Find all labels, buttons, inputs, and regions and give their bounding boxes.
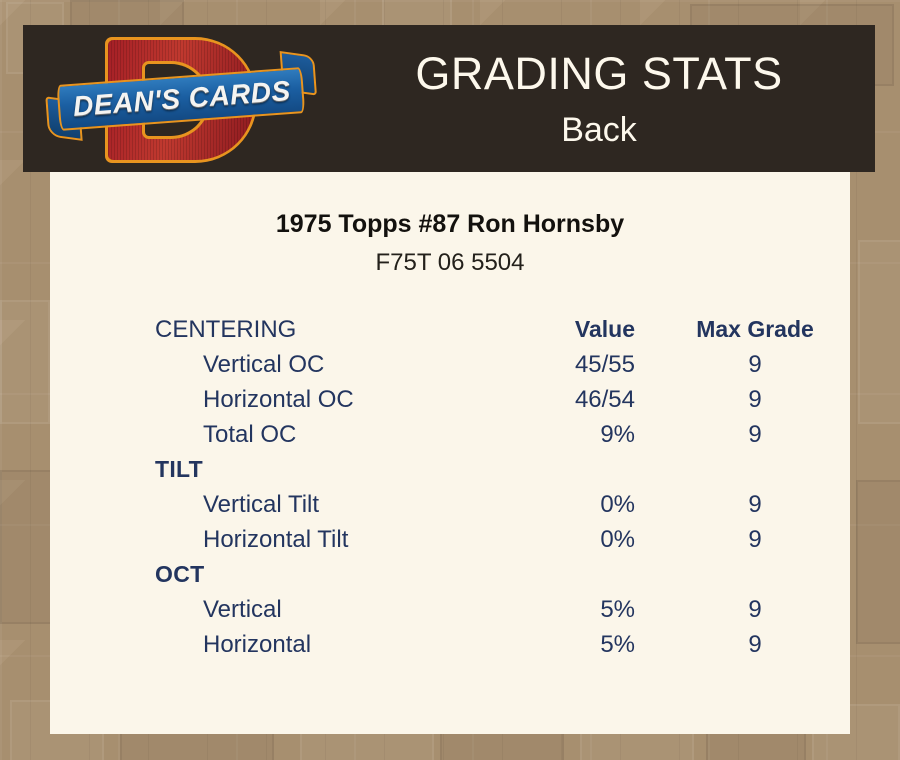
stats-row-value: 0% <box>485 522 635 557</box>
card-title: 1975 Topps #87 Ron Hornsby <box>50 210 850 239</box>
deans-cards-logo[interactable]: DEAN'S CARDS <box>48 28 313 170</box>
stats-row: Horizontal Tilt0%9 <box>155 522 845 557</box>
page-subtitle: Back <box>323 113 875 147</box>
stats-row-grade: 9 <box>665 347 845 382</box>
stats-section-row: TILT <box>155 452 845 487</box>
stats-section-row: OCT <box>155 557 845 592</box>
stats-row: Total OC9%9 <box>155 417 845 452</box>
grading-stats-page: DEAN'S CARDS GRADING STATS Back 1975 Top… <box>0 0 900 760</box>
logo-text: DEAN'S CARDS <box>61 69 303 128</box>
stats-row-label: Horizontal <box>155 627 533 662</box>
stats-row-value: 45/55 <box>485 347 635 382</box>
stats-section-row: CENTERINGValueMax Grade <box>155 312 845 347</box>
card-id: F75T 06 5504 <box>50 249 850 277</box>
stats-row-label: Horizontal Tilt <box>155 522 533 557</box>
stats-row: Horizontal OC46/549 <box>155 382 845 417</box>
stats-row-grade: 9 <box>665 417 845 452</box>
stats-row-value: 9% <box>485 417 635 452</box>
stats-row-value: 5% <box>485 592 635 627</box>
stats-row-label: Vertical OC <box>155 347 533 382</box>
stats-row: Vertical OC45/559 <box>155 347 845 382</box>
content-panel: 1975 Topps #87 Ron Hornsby F75T 06 5504 … <box>50 172 850 734</box>
stats-row-label: Total OC <box>155 417 533 452</box>
stats-row-label: Vertical <box>155 592 533 627</box>
page-title: GRADING STATS <box>323 51 875 96</box>
header-band: DEAN'S CARDS GRADING STATS Back <box>23 25 875 172</box>
stats-row: Horizontal5%9 <box>155 627 845 662</box>
logo-ribbon-icon: DEAN'S CARDS <box>46 62 315 139</box>
stats-row-grade: 9 <box>665 592 845 627</box>
stats-row-value: 5% <box>485 627 635 662</box>
stats-row: Vertical Tilt0%9 <box>155 487 845 522</box>
stats-row-label: TILT <box>155 452 485 487</box>
stats-row-label: Vertical Tilt <box>155 487 533 522</box>
background-card-thumb <box>0 300 50 424</box>
background-card-thumb <box>858 240 900 424</box>
stats-row: Vertical5%9 <box>155 592 845 627</box>
stats-row-grade: 9 <box>665 627 845 662</box>
stats-row-value: 0% <box>485 487 635 522</box>
stats-row-grade: 9 <box>665 382 845 417</box>
stats-row-grade: Max Grade <box>665 312 845 347</box>
stats-row-value: 46/54 <box>485 382 635 417</box>
stats-row-grade: 9 <box>665 522 845 557</box>
grading-stats-table: CENTERINGValueMax GradeVertical OC45/559… <box>155 312 845 662</box>
stats-row-label: OCT <box>155 557 485 592</box>
stats-row-label: Horizontal OC <box>155 382 533 417</box>
background-card-thumb <box>856 480 900 644</box>
stats-row-label: CENTERING <box>155 312 485 347</box>
stats-row-value: Value <box>485 312 635 347</box>
background-card-thumb <box>0 470 52 624</box>
stats-row-grade: 9 <box>665 487 845 522</box>
